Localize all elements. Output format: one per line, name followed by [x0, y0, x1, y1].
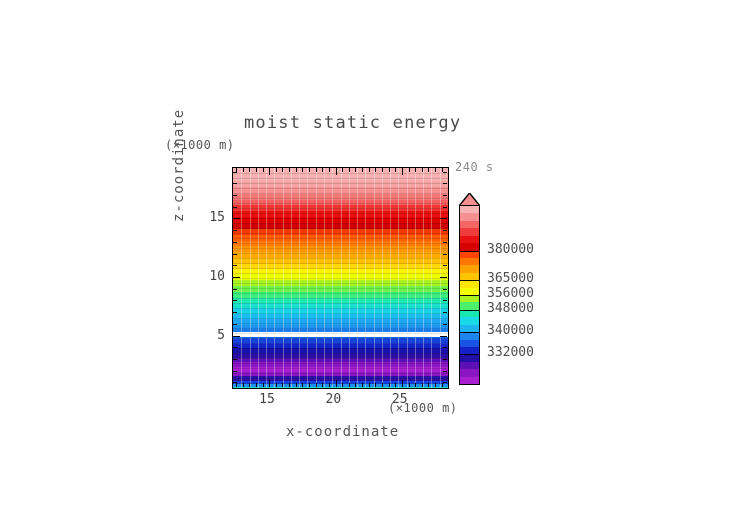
axis-tick: [375, 168, 376, 172]
axis-tick: [296, 383, 297, 387]
axis-tick: [236, 383, 237, 387]
axis-tick: [233, 382, 237, 383]
colorbar-level-separator: [460, 332, 479, 333]
axis-tick: [382, 168, 383, 172]
axis-tick: [233, 347, 237, 348]
axis-tick: [233, 183, 237, 184]
axis-tick: [395, 383, 396, 387]
axis-tick: [369, 168, 370, 172]
axis-tick: [415, 168, 416, 172]
axis-tick: [296, 168, 297, 172]
axis-tick: [233, 312, 237, 313]
axis-tick: [233, 371, 237, 372]
axis-tick: [309, 383, 310, 387]
axis-tick: [256, 168, 257, 172]
axis-tick: [233, 230, 237, 231]
axis-tick: [243, 168, 244, 172]
axis-tick: [233, 359, 237, 360]
axis-tick: [233, 289, 237, 290]
axis-tick: [428, 168, 429, 172]
axis-tick: [349, 383, 350, 387]
axis-tick: [428, 383, 429, 387]
axis-tick: [440, 277, 447, 278]
axis-tick: [316, 168, 317, 172]
axis-tick: [336, 380, 337, 387]
contour-band: [233, 187, 448, 194]
colorbar-level-separator: [460, 295, 479, 296]
screenshot-frame: moist static energy (×1000 m) 240 s z-co…: [0, 0, 752, 532]
axis-tick: [316, 383, 317, 387]
axis-tick: [435, 168, 436, 172]
axis-tick: [233, 254, 237, 255]
axis-tick: [256, 383, 257, 387]
y-axis-tick-label: 10: [205, 269, 225, 284]
colorbar-tick-label: 356000: [487, 286, 534, 301]
axis-tick: [422, 168, 423, 172]
colorbar-level-separator: [460, 251, 479, 252]
axis-tick: [329, 383, 330, 387]
time-annotation: 240 s: [455, 160, 494, 174]
axis-tick: [233, 324, 237, 325]
axis-tick: [443, 242, 447, 243]
colorbar[interactable]: [459, 205, 480, 385]
axis-tick: [435, 383, 436, 387]
colorbar-level-separator: [460, 280, 479, 281]
axis-tick: [443, 324, 447, 325]
axis-tick: [440, 218, 447, 219]
axis-tick: [443, 183, 447, 184]
axis-tick: [263, 383, 264, 387]
axis-tick: [443, 312, 447, 313]
axis-tick: [233, 207, 237, 208]
axis-tick: [395, 168, 396, 172]
axis-tick: [362, 168, 363, 172]
axis-tick: [389, 383, 390, 387]
colorbar-tick-label: 332000: [487, 345, 534, 360]
axis-tick: [269, 168, 270, 175]
inversion-gap-band: [233, 332, 448, 337]
axis-tick: [269, 380, 270, 387]
x-axis-tick-label: 15: [259, 392, 275, 407]
axis-tick: [443, 289, 447, 290]
axis-tick: [243, 383, 244, 387]
axis-tick: [322, 383, 323, 387]
colorbar-segment: [460, 377, 479, 385]
plot-canvas: moist static energy (×1000 m) 240 s z-co…: [0, 0, 752, 532]
axis-tick: [443, 371, 447, 372]
axis-tick: [443, 254, 447, 255]
contour-band-stack: [233, 168, 448, 388]
axis-tick: [233, 265, 237, 266]
colorbar-tick-label: 365000: [487, 271, 534, 286]
axis-tick: [276, 383, 277, 387]
axis-tick: [402, 380, 403, 387]
axis-tick: [443, 230, 447, 231]
axis-tick: [443, 207, 447, 208]
axis-tick: [249, 168, 250, 172]
axis-tick: [355, 168, 356, 172]
axis-tick: [289, 383, 290, 387]
axis-tick: [233, 195, 237, 196]
axis-tick: [349, 168, 350, 172]
axis-tick: [249, 383, 250, 387]
axis-tick: [302, 383, 303, 387]
y-axis-title: z-coordinate: [171, 109, 187, 222]
axis-tick: [443, 265, 447, 266]
axis-tick: [440, 336, 447, 337]
y-axis-tick-label: 15: [205, 210, 225, 225]
axis-tick: [233, 277, 240, 278]
contour-plot-area[interactable]: [232, 167, 449, 389]
axis-tick: [263, 168, 264, 172]
axis-tick: [442, 383, 443, 387]
axis-tick: [402, 168, 403, 175]
y-axis-tick-label: 5: [205, 328, 225, 343]
axis-tick: [302, 168, 303, 172]
axis-tick: [342, 383, 343, 387]
axis-tick: [355, 383, 356, 387]
colorbar-tick-label: 348000: [487, 301, 534, 316]
axis-tick: [443, 347, 447, 348]
axis-tick: [342, 168, 343, 172]
axis-tick: [443, 172, 447, 173]
axis-tick: [233, 242, 237, 243]
axis-tick: [233, 172, 237, 173]
axis-tick: [382, 383, 383, 387]
axis-tick: [443, 195, 447, 196]
axis-tick: [276, 168, 277, 172]
x-axis-tick-label: 20: [326, 392, 342, 407]
contour-band: [233, 387, 448, 388]
axis-tick: [322, 168, 323, 172]
axis-tick: [415, 383, 416, 387]
axis-tick: [369, 383, 370, 387]
axis-tick: [443, 382, 447, 383]
colorbar-tick-label: 340000: [487, 323, 534, 338]
colorbar-tick-label: 380000: [487, 242, 534, 257]
axis-tick: [375, 383, 376, 387]
contour-band: [233, 174, 448, 181]
axis-tick: [409, 168, 410, 172]
axis-tick: [289, 168, 290, 172]
axis-tick: [336, 168, 337, 175]
axis-tick: [443, 359, 447, 360]
colorbar-level-separator: [460, 354, 479, 355]
axis-tick: [309, 168, 310, 172]
axis-tick: [233, 300, 237, 301]
axis-tick: [362, 383, 363, 387]
axis-tick: [422, 383, 423, 387]
axis-tick: [282, 383, 283, 387]
axis-tick: [329, 168, 330, 172]
axis-tick: [282, 168, 283, 172]
axis-tick: [389, 168, 390, 172]
axis-tick: [409, 383, 410, 387]
page-title: moist static energy: [244, 113, 461, 133]
axis-tick: [233, 218, 240, 219]
axis-tick: [233, 336, 240, 337]
x-axis-tick-label: 25: [392, 392, 408, 407]
colorbar-level-separator: [460, 310, 479, 311]
axis-tick: [443, 300, 447, 301]
x-axis-title: x-coordinate: [286, 424, 399, 440]
